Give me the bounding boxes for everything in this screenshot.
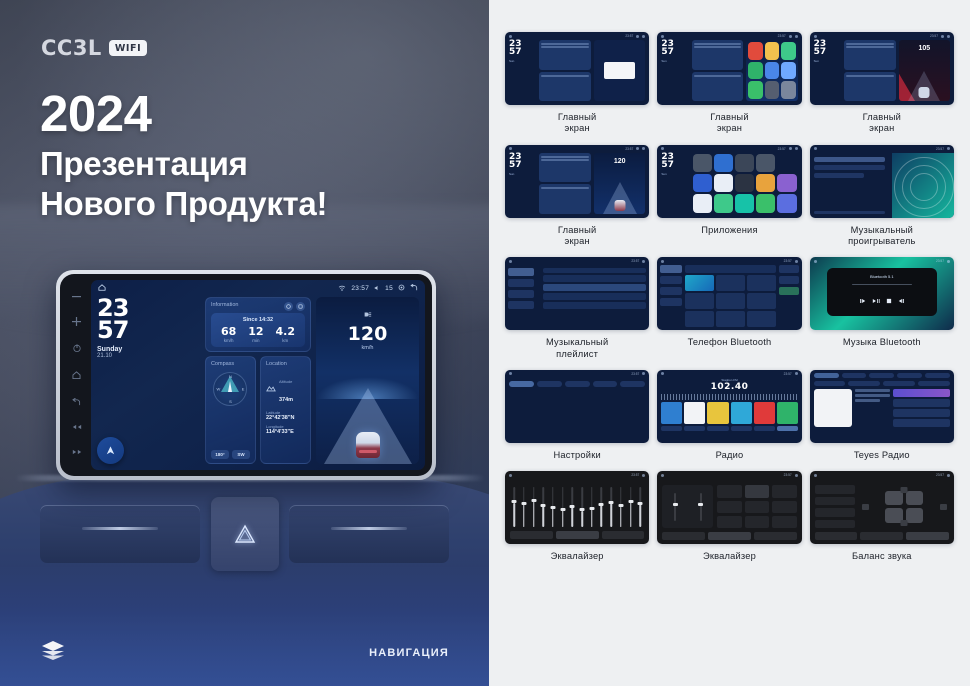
hazard-triangle-icon <box>234 524 256 544</box>
settings-gear-icon[interactable] <box>398 284 405 293</box>
presentation-page: CC3L WIFI 2024 Презентация Нового Продук… <box>0 0 970 686</box>
stat-value: 12 <box>248 326 263 337</box>
widgets-column: Information <box>205 297 311 464</box>
compass-dir-e: E <box>242 387 245 392</box>
volume-down-key[interactable] <box>72 295 81 298</box>
navigation-arrow-icon <box>104 444 117 457</box>
play-pause-icon[interactable] <box>872 291 880 309</box>
thumbnail-bluetooth-music[interactable]: 23:57 Bluetooth 5.1 <box>810 257 954 330</box>
clock-column: 23 57 Sunday 21.10 <box>97 297 200 464</box>
hazard-light-button[interactable] <box>211 497 279 571</box>
balance-left-arrow <box>862 504 869 510</box>
screenshot-grid: 23:57 2357Sun Главныйэкран 23:57 <box>505 32 954 563</box>
balance-presets[interactable] <box>815 485 855 528</box>
gallery-item[interactable]: 23:57 Телефон <box>657 257 801 360</box>
back-arrow-icon[interactable] <box>410 284 418 293</box>
headline-line-2: Нового Продукта! <box>40 184 327 224</box>
thumbnail-playlist[interactable]: 23:57 <box>505 257 649 330</box>
caption-line-1: Настройки <box>553 450 600 460</box>
location-title: Location <box>266 361 305 367</box>
gallery-item[interactable]: 23:57 Настройки <box>505 370 649 461</box>
head-unit-screen[interactable]: 23:57 15 <box>91 280 425 470</box>
gallery-item[interactable]: 23:57 Музыкальныйпроигрыватель <box>810 145 954 248</box>
thumbnail-home-nav[interactable]: 23:57 2357Sun 120 <box>505 145 649 218</box>
balance-down-arrow <box>901 520 908 526</box>
lead-vehicle-graphic <box>356 432 380 458</box>
trip-stat-item: 4.2 km <box>276 326 296 343</box>
gallery-item[interactable]: 23:57 2357Sun Главныйэкран <box>657 32 801 135</box>
hero-footer: НАВИГАЦИЯ <box>0 620 489 686</box>
caption-line-1: Радио <box>716 450 744 460</box>
caption-line-1: Главный <box>558 112 596 122</box>
balance-right-arrow <box>940 504 947 510</box>
gallery-item[interactable]: 23:57 <box>505 471 649 562</box>
trip-stats: 68 km/h 12 min <box>215 326 301 343</box>
bt-now-playing-card: Bluetooth 5.1 <box>827 268 937 316</box>
status-time: 23:57 <box>351 285 369 292</box>
status-volume: 15 <box>385 285 393 292</box>
caption-line-1: Музыкальный <box>851 225 913 235</box>
stat-unit: km/h <box>221 338 236 343</box>
gallery-item[interactable]: 23:57 Баланс звука <box>810 471 954 562</box>
back-key[interactable] <box>72 398 81 406</box>
caption-line-2: экран <box>565 123 590 133</box>
thumbnail-teyes-radio[interactable] <box>810 370 954 443</box>
caption-line-1: Эквалайзер <box>703 551 756 561</box>
home-indicator-icon[interactable] <box>98 284 106 293</box>
latitude-value: 22°42'38"N <box>266 415 305 421</box>
thumbnail-radio[interactable]: 23:57 Stagtion FM 102.40 <box>657 370 801 443</box>
layers-stack-icon[interactable] <box>40 640 66 667</box>
radio-presets[interactable] <box>657 402 801 424</box>
stat-unit: min <box>248 338 263 343</box>
gallery-item[interactable]: 23:57 2357Sun Главныйэкран <box>505 32 649 135</box>
trip-reset-icon[interactable] <box>284 302 293 311</box>
trip-stat-item: 68 km/h <box>221 326 236 343</box>
apps-icon-grid[interactable] <box>692 153 798 214</box>
clock-widget: 23 57 Sunday 21.10 <box>97 297 200 359</box>
thumbnail-equalizer-presets[interactable]: 23:57 <box>657 471 801 544</box>
next-track-key[interactable] <box>72 449 82 455</box>
thumbnail-music-player[interactable]: 23:57 <box>810 145 954 218</box>
thumbnail-sound-balance[interactable]: 23:57 <box>810 471 954 544</box>
screen-status-bar: 23:57 15 <box>91 280 425 297</box>
head-unit-device: 23:57 15 <box>56 270 436 480</box>
caption-line-2: экран <box>565 236 590 246</box>
compass-direction-chip: SW <box>232 450 250 459</box>
compass-dir-s: S <box>229 399 232 404</box>
caption-line-1: Эквалайзер <box>551 551 604 561</box>
clock-weekday: Sunday <box>97 346 200 353</box>
gallery-item[interactable]: 23:57 Bluetooth 5.1 Музыка Bluetooth <box>810 257 954 360</box>
stat-value: 4.2 <box>276 326 296 337</box>
clock-minutes: 57 <box>97 319 200 341</box>
clock-date: 21.10 <box>97 353 200 359</box>
gallery-item[interactable]: Teyes Радио <box>810 370 954 461</box>
caption-line-1: Главный <box>863 112 901 122</box>
thumb-speed-value: 120 <box>614 158 626 165</box>
thumbnail-equalizer[interactable]: 23:57 <box>505 471 649 544</box>
teyes-radio-tabs[interactable] <box>810 370 954 381</box>
screenshots-gallery-panel: 23:57 2357Sun Главныйэкран 23:57 <box>489 0 970 686</box>
navigation-fab-button[interactable] <box>97 437 124 464</box>
caption-line-1: Телефон Bluetooth <box>688 337 772 347</box>
thumbnail-settings[interactable]: 23:57 <box>505 370 649 443</box>
caption-line-1: Главный <box>558 225 596 235</box>
trip-since-label: Since 14:32 <box>215 317 301 323</box>
settings-tabs[interactable] <box>505 378 649 387</box>
gallery-item[interactable]: 23:57 Музыкальныйплейлист <box>505 257 649 360</box>
car-interior-photo: 23:57 15 <box>0 205 489 686</box>
gallery-item[interactable]: 23:57 Stagtion FM 102.40 Радио <box>657 370 801 461</box>
gallery-item[interactable]: 23:57 Эквалайзер <box>657 471 801 562</box>
album-art <box>814 389 852 427</box>
gallery-item[interactable]: 23:57 2357Sun 105 Главныйэкран <box>810 32 954 135</box>
headline-year: 2024 <box>40 88 327 140</box>
gain-sliders[interactable] <box>662 485 713 528</box>
stop-icon[interactable] <box>886 291 892 309</box>
speed-value: 120 <box>348 325 388 344</box>
caption-line-2: проигрыватель <box>848 236 916 246</box>
dialpad[interactable] <box>685 275 776 327</box>
thumbnail-bluetooth-phone[interactable]: 23:57 <box>657 257 801 330</box>
thumbnail-home-drive[interactable]: 23:57 2357Sun 105 <box>810 32 954 105</box>
radio-tuning-scale[interactable] <box>661 394 797 400</box>
navigation-caption: НАВИГАЦИЯ <box>369 647 449 659</box>
gallery-item[interactable]: 23:57 2357Sun Приложения <box>657 145 801 248</box>
caption-line-1: Музыка Bluetooth <box>843 337 921 347</box>
air-vent-right <box>289 505 449 563</box>
caption-line-2: экран <box>869 123 894 133</box>
thumbnail-apps[interactable]: 23:57 2357Sun <box>657 145 801 218</box>
volume-up-key[interactable] <box>72 317 81 326</box>
stat-value: 68 <box>221 326 236 337</box>
power-key[interactable] <box>73 344 81 352</box>
caption-line-1: Музыкальный <box>546 337 608 347</box>
stat-unit: km <box>276 338 296 343</box>
longitude-value: 114°4'33"E <box>266 429 305 435</box>
compass-dir-w: W <box>216 387 220 392</box>
home-key[interactable] <box>72 371 81 379</box>
altitude-mountain-icon <box>266 384 276 392</box>
air-vent-left <box>40 505 200 563</box>
thumb-speed-value: 105 <box>919 45 931 52</box>
bt-version-label: Bluetooth 5.1 <box>870 274 894 279</box>
left-hero-panel: CC3L WIFI 2024 Презентация Нового Продук… <box>0 0 489 686</box>
logo-wifi-badge: WIFI <box>109 40 147 56</box>
thumbnail-home-apps[interactable]: 23:57 2357Sun <box>657 32 801 105</box>
preset-grid[interactable] <box>717 485 796 528</box>
balance-pad[interactable] <box>860 485 949 528</box>
headline-line-1: Презентация <box>40 144 327 184</box>
prev-track-key[interactable] <box>72 424 82 430</box>
information-title: Information <box>211 302 239 308</box>
headlight-icon <box>363 305 372 323</box>
trip-settings-icon[interactable] <box>296 302 305 311</box>
radio-frequency: 102.40 <box>657 382 801 392</box>
altitude-label: Altitude <box>279 379 292 384</box>
compass-title: Compass <box>211 361 250 367</box>
hero-headline: 2024 Презентация Нового Продукта! <box>40 88 327 225</box>
station-list[interactable] <box>893 389 950 427</box>
compass-card[interactable]: Compass N E S W <box>205 356 256 464</box>
caption-line-1: Teyes Радио <box>854 450 910 460</box>
gallery-item[interactable]: 23:57 2357Sun 120 Главныйэкран <box>505 145 649 248</box>
caption-line-2: плейлист <box>556 349 598 359</box>
wifi-icon <box>338 285 346 293</box>
next-icon[interactable] <box>898 291 905 309</box>
drive-view-panel[interactable]: 120 km/h <box>316 297 419 464</box>
prev-icon[interactable] <box>859 291 866 309</box>
volume-icon[interactable] <box>374 285 380 293</box>
altitude-value: 374m <box>279 397 293 403</box>
compass-dir-n: N <box>229 374 232 379</box>
caption-line-2: экран <box>717 123 742 133</box>
caption-line-1: Главный <box>710 112 748 122</box>
location-card[interactable]: Location Altitude 374m <box>260 356 311 464</box>
hardware-key-strip[interactable] <box>67 280 86 470</box>
speed-unit: km/h <box>362 345 374 351</box>
caption-line-1: Баланс звука <box>852 551 912 561</box>
compass-dial: N E S W <box>213 372 247 406</box>
product-logo: CC3L WIFI <box>41 36 147 60</box>
information-card[interactable]: Information <box>205 297 311 352</box>
compass-heading-chip: 180° <box>211 450 229 459</box>
trip-stat-item: 12 min <box>248 326 263 343</box>
logo-model-text: CC3L <box>41 36 102 60</box>
equalizer-sliders[interactable] <box>505 479 649 531</box>
thumbnail-home-media[interactable]: 23:57 2357Sun <box>505 32 649 105</box>
music-visualizer <box>892 153 954 218</box>
caption-line-1: Приложения <box>701 225 757 235</box>
balance-up-arrow <box>901 487 908 493</box>
settings-tiles[interactable] <box>505 387 649 395</box>
